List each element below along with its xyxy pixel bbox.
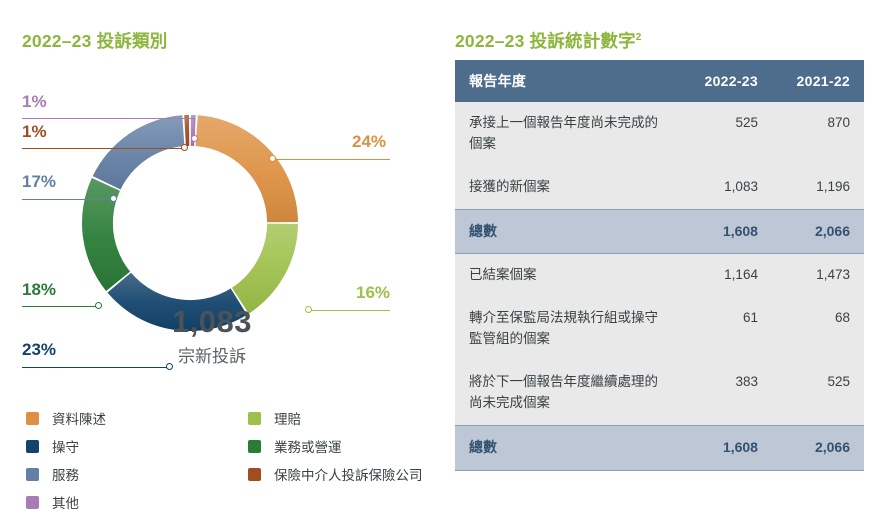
table-row-total: 總數1,6082,066 [455, 209, 864, 254]
legend-column-left: 資料陳述操守服務其他 [26, 404, 106, 516]
legend-item[interactable]: 理賠 [248, 404, 423, 432]
table-cell-2021-22: 1,473 [772, 254, 864, 297]
table-row: 已結案個案1,1641,473 [455, 254, 864, 297]
table-row: 將於下一個報告年度繼續處理的尚未完成個案383525 [455, 361, 864, 425]
legend-column-right: 理賠業務或營運保險中介人投訴保險公司 [248, 404, 423, 488]
left-panel-title: 2022–23 投訴類別 [22, 28, 167, 53]
pct-label-business: 18% [22, 280, 56, 300]
table-cell-2022-23: 1,608 [680, 209, 772, 254]
table-cell-2022-23: 525 [680, 102, 772, 166]
leader-line-intermediary [22, 148, 185, 149]
legend-swatch-icon [248, 440, 261, 453]
legend-item[interactable]: 服務 [26, 460, 106, 488]
right-panel-title-footnote: 2 [636, 32, 642, 43]
table-header-2021-22: 2021-22 [772, 60, 864, 102]
legend-item[interactable]: 其他 [26, 488, 106, 516]
legend-item[interactable]: 操守 [26, 432, 106, 460]
table-row-total: 總數1,6082,066 [455, 426, 864, 471]
statistics-table: 報告年度 2022-23 2021-22 承接上一個報告年度尚未完成的個案525… [455, 60, 864, 471]
legend-item-label: 服務 [52, 464, 79, 484]
leader-line-business [22, 306, 98, 307]
leader-line-other [22, 118, 195, 119]
donut-slice-shading [196, 115, 298, 222]
table-row: 接獲的新個案1,0831,196 [455, 166, 864, 209]
leader-dot-representation [269, 155, 276, 162]
table-header-2022-23: 2022-23 [680, 60, 772, 102]
table-cell-label: 已結案個案 [455, 254, 680, 297]
table-cell-2021-22: 2,066 [772, 209, 864, 254]
legend-item[interactable]: 保險中介人投訴保險公司 [248, 460, 423, 488]
leader-dot-claims [305, 306, 312, 313]
table-cell-label: 總數 [455, 209, 680, 254]
pct-label-representation: 24% [352, 132, 386, 152]
donut-chart: 1,083 宗新投訴 1% 1% 17% 18% 23% 24% 16% [0, 80, 440, 400]
table-cell-2022-23: 383 [680, 361, 772, 425]
legend-swatch-icon [248, 468, 261, 481]
legend-swatch-icon [26, 496, 39, 509]
legend-swatch-icon [26, 412, 39, 425]
table-cell-2022-23: 61 [680, 297, 772, 361]
legend-item-label: 理賠 [274, 408, 301, 428]
leader-line-representation [272, 159, 390, 160]
donut-center-caption: 宗新投訴 [132, 342, 292, 367]
table-cell-2021-22: 68 [772, 297, 864, 361]
table-cell-2021-22: 525 [772, 361, 864, 425]
legend-item-label: 操守 [52, 436, 79, 456]
leader-dot-business [95, 302, 102, 309]
legend-item-label: 業務或營運 [274, 436, 342, 456]
legend-swatch-icon [248, 412, 261, 425]
donut-slice-shading [93, 115, 185, 189]
table-cell-label: 總數 [455, 426, 680, 471]
donut-inner-ring [114, 147, 267, 300]
leader-dot-conduct [166, 363, 173, 370]
pct-label-conduct: 23% [22, 340, 56, 360]
right-panel-title-text: 2022–23 投訴統計數字 [455, 31, 636, 51]
table-cell-2021-22: 1,196 [772, 166, 864, 209]
pct-label-intermediary: 1% [22, 122, 47, 142]
legend-item-label: 資料陳述 [52, 408, 106, 428]
table-cell-2022-23: 1,083 [680, 166, 772, 209]
right-panel-title: 2022–23 投訴統計數字2 [455, 28, 642, 53]
leader-line-conduct [22, 367, 170, 368]
complaint-statistics-table: 報告年度 2022-23 2021-22 承接上一個報告年度尚未完成的個案525… [455, 60, 864, 471]
leader-line-service [22, 199, 114, 200]
legend-item-label: 其他 [52, 492, 79, 512]
donut-slice-shading [184, 115, 189, 146]
legend-swatch-icon [26, 440, 39, 453]
table-cell-label: 承接上一個報告年度尚未完成的個案 [455, 102, 680, 166]
table-cell-2021-22: 2,066 [772, 426, 864, 471]
donut-slice-shading [82, 178, 130, 291]
table-cell-2021-22: 870 [772, 102, 864, 166]
table-row: 承接上一個報告年度尚未完成的個案525870 [455, 102, 864, 166]
legend-item-label: 保險中介人投訴保險公司 [274, 464, 423, 484]
table-head: 報告年度 2022-23 2021-22 [455, 60, 864, 102]
leader-dot-other [191, 135, 198, 142]
table-cell-2022-23: 1,164 [680, 254, 772, 297]
table-cell-2022-23: 1,608 [680, 426, 772, 471]
table-body: 承接上一個報告年度尚未完成的個案525870接獲的新個案1,0831,196總數… [455, 102, 864, 470]
leader-dot-service [110, 195, 117, 202]
legend-item[interactable]: 業務或營運 [248, 432, 423, 460]
table-row: 轉介至保監局法規執行組或操守監管組的個案6168 [455, 297, 864, 361]
infographic-page: 2022–23 投訴類別 2022–23 投訴統計數字2 1,083 宗新投訴 … [0, 0, 884, 524]
table-cell-label: 接獲的新個案 [455, 166, 680, 209]
table-header-row: 報告年度 2022-23 2021-22 [455, 60, 864, 102]
table-cell-label: 將於下一個報告年度繼續處理的尚未完成個案 [455, 361, 680, 425]
pct-label-service: 17% [22, 172, 56, 192]
leader-line-claims [308, 310, 390, 311]
legend-item[interactable]: 資料陳述 [26, 404, 106, 432]
table-cell-label: 轉介至保監局法規執行組或操守監管組的個案 [455, 297, 680, 361]
pct-label-other: 1% [22, 92, 47, 112]
donut-center-value: 1,083 [132, 304, 292, 340]
table-header-year: 報告年度 [455, 60, 680, 102]
leader-dot-intermediary [181, 144, 188, 151]
pct-label-claims: 16% [356, 283, 390, 303]
legend-swatch-icon [26, 468, 39, 481]
